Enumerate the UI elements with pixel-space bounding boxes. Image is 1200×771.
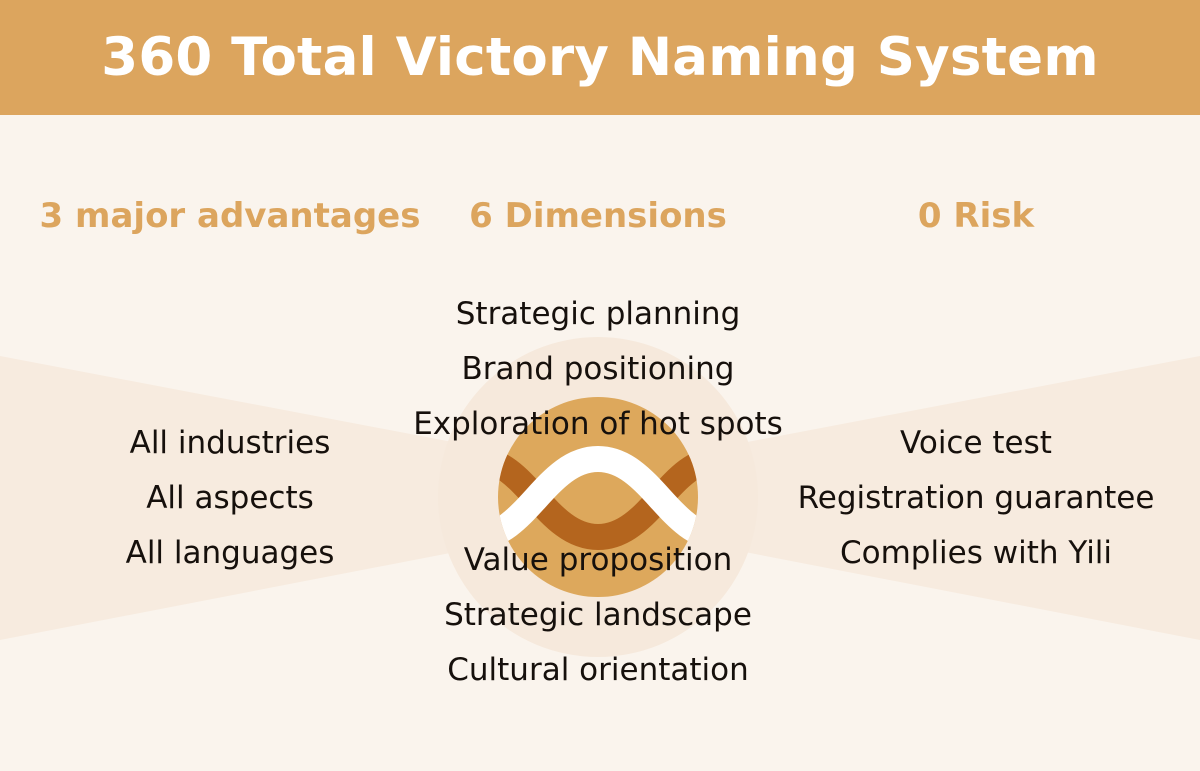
list-item: Strategic landscape — [378, 588, 818, 643]
list-item: Strategic planning — [378, 287, 818, 342]
list-item: All languages — [30, 526, 430, 581]
column-heading-risk: 0 Risk — [776, 186, 1176, 246]
column-heading-dimensions: 6 Dimensions — [398, 186, 798, 246]
column-heading-advantages: 3 major advantages — [30, 186, 430, 246]
advantages-list: All industries All aspects All languages — [30, 416, 430, 581]
list-item: Cultural orientation — [378, 643, 818, 698]
list-item: Registration guarantee — [776, 471, 1176, 526]
risk-list: Voice test Registration guarantee Compli… — [776, 416, 1176, 581]
dimensions-list-top: Strategic planning Brand positioning Exp… — [378, 287, 818, 452]
dimensions-list-bottom: Value proposition Strategic landscape Cu… — [378, 533, 818, 698]
list-item: All aspects — [30, 471, 430, 526]
page-title: 360 Total Victory Naming System — [101, 31, 1099, 84]
column-headings-row: 3 major advantages 6 Dimensions 0 Risk — [0, 186, 1200, 246]
list-item: Value proposition — [378, 533, 818, 588]
list-item: Complies with Yili — [776, 526, 1176, 581]
list-item: Brand positioning — [378, 342, 818, 397]
infographic-poster: 360 Total Victory Naming System 3 major … — [0, 0, 1200, 771]
list-item: All industries — [30, 416, 430, 471]
header-band: 360 Total Victory Naming System — [0, 0, 1200, 115]
list-item: Voice test — [776, 416, 1176, 471]
list-item: Exploration of hot spots — [378, 397, 818, 452]
